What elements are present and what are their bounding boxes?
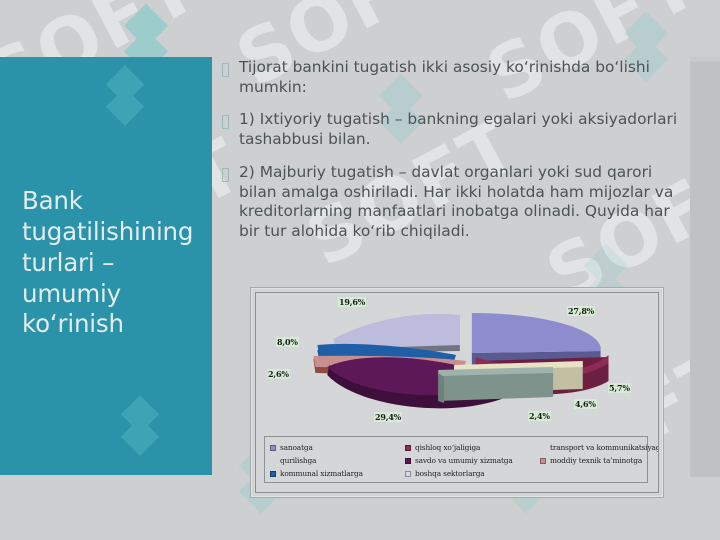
- legend-swatch-icon: [540, 458, 546, 464]
- title-panel: Bank tugatilishining turlari – umumiy ko…: [0, 57, 212, 475]
- page-title: Bank tugatilishining turlari – umumiy ko…: [22, 186, 208, 340]
- legend-swatch-icon: [405, 458, 411, 464]
- pie-value-label-moddiy: 2,6%: [267, 369, 290, 379]
- legend-item-kommunal-xizmatlarga: kommunal xizmatlarga: [270, 469, 405, 478]
- pie-value-label-qurilish: 2,4%: [528, 411, 551, 421]
- pie-chart-object[interactable]: 19,6% 8,0% 2,6% 29,4% 27,8% 5,7% 4,6% 2,…: [250, 287, 664, 498]
- bullet-box-icon: [222, 63, 229, 77]
- list-item-text: 1) Ixtiyoriy tugatish – bankning egalari…: [239, 110, 684, 149]
- legend-swatch-icon: [270, 458, 276, 464]
- pie-value-label-transport: 4,6%: [574, 399, 597, 409]
- chart-plot-area: 19,6% 8,0% 2,6% 29,4% 27,8% 5,7% 4,6% 2,…: [255, 292, 659, 493]
- legend-label: transport va kommunikatsiyaga: [550, 443, 659, 452]
- right-edge-strip-cap: [690, 57, 720, 62]
- pie-value-label-qishloq: 5,7%: [608, 383, 631, 393]
- slice-qurilishga: [438, 367, 553, 403]
- list-item: 2) Majburiy tugatish – davlat organlari …: [222, 163, 684, 242]
- legend-label: sanoatga: [280, 443, 313, 452]
- legend-item-moddiy-texnik-taminotga: moddiy texnik ta’minotga: [540, 456, 659, 465]
- legend-swatch-icon: [405, 471, 411, 477]
- list-item-text: Tijorat bankini tugatish ikki asosiy ko‘…: [239, 58, 684, 97]
- pie-value-label-kommunal: 8,0%: [276, 337, 299, 347]
- legend-swatch-icon: [270, 471, 276, 477]
- legend-item-transport-va-kommunikatsiyaga: transport va kommunikatsiyaga: [540, 443, 659, 452]
- bullet-box-icon: [222, 115, 229, 129]
- legend-label: qishloq xo‘jaligiga: [415, 443, 480, 452]
- legend-swatch-icon: [405, 445, 411, 451]
- bullet-list: Tijorat bankini tugatish ikki asosiy ko‘…: [222, 58, 684, 255]
- legend-swatch-icon: [270, 445, 276, 451]
- legend-label: savdo va umumiy xizmatga: [415, 456, 513, 465]
- right-edge-strip: [690, 57, 720, 477]
- legend-item-empty: [540, 471, 659, 477]
- legend-item-boshqa-sektorlarga: boshqa sektorlarga: [405, 469, 540, 478]
- legend-item-sanoatga: sanoatga: [270, 443, 405, 452]
- list-item: 1) Ixtiyoriy tugatish – bankning egalari…: [222, 110, 684, 149]
- legend-label: qurilishga: [280, 456, 316, 465]
- legend-label: kommunal xizmatlarga: [280, 469, 363, 478]
- list-item: Tijorat bankini tugatish ikki asosiy ko‘…: [222, 58, 684, 97]
- pie-value-label-boshqa: 19,6%: [338, 297, 366, 307]
- chart-legend: sanoatga qishloq xo‘jaligiga transport v…: [264, 436, 648, 483]
- legend-item-qishloq-xojaligiga: qishloq xo‘jaligiga: [405, 443, 540, 452]
- pie-3d-graphic: [256, 293, 658, 421]
- legend-label: boshqa sektorlarga: [415, 469, 485, 478]
- panel-watermark-logo-icon: [100, 392, 180, 472]
- legend-item-savdo-va-umumiy-xizmatga: savdo va umumiy xizmatga: [405, 456, 540, 465]
- bullet-box-icon: [222, 168, 229, 182]
- legend-item-qurilishga: qurilishga: [270, 456, 405, 465]
- panel-watermark-logo-icon: [85, 62, 165, 142]
- legend-swatch-icon: [540, 445, 546, 451]
- list-item-text: 2) Majburiy tugatish – davlat organlari …: [239, 163, 684, 242]
- slide-canvas: SOFT SOFT SOFT SOFT SOFT SOFT SOFT SOFT …: [0, 0, 720, 540]
- pie-value-label-savdo: 29,4%: [374, 412, 402, 422]
- pie-value-label-sanoat: 27,8%: [567, 306, 595, 316]
- legend-swatch-icon: [540, 471, 546, 477]
- legend-label: moddiy texnik ta’minotga: [550, 456, 642, 465]
